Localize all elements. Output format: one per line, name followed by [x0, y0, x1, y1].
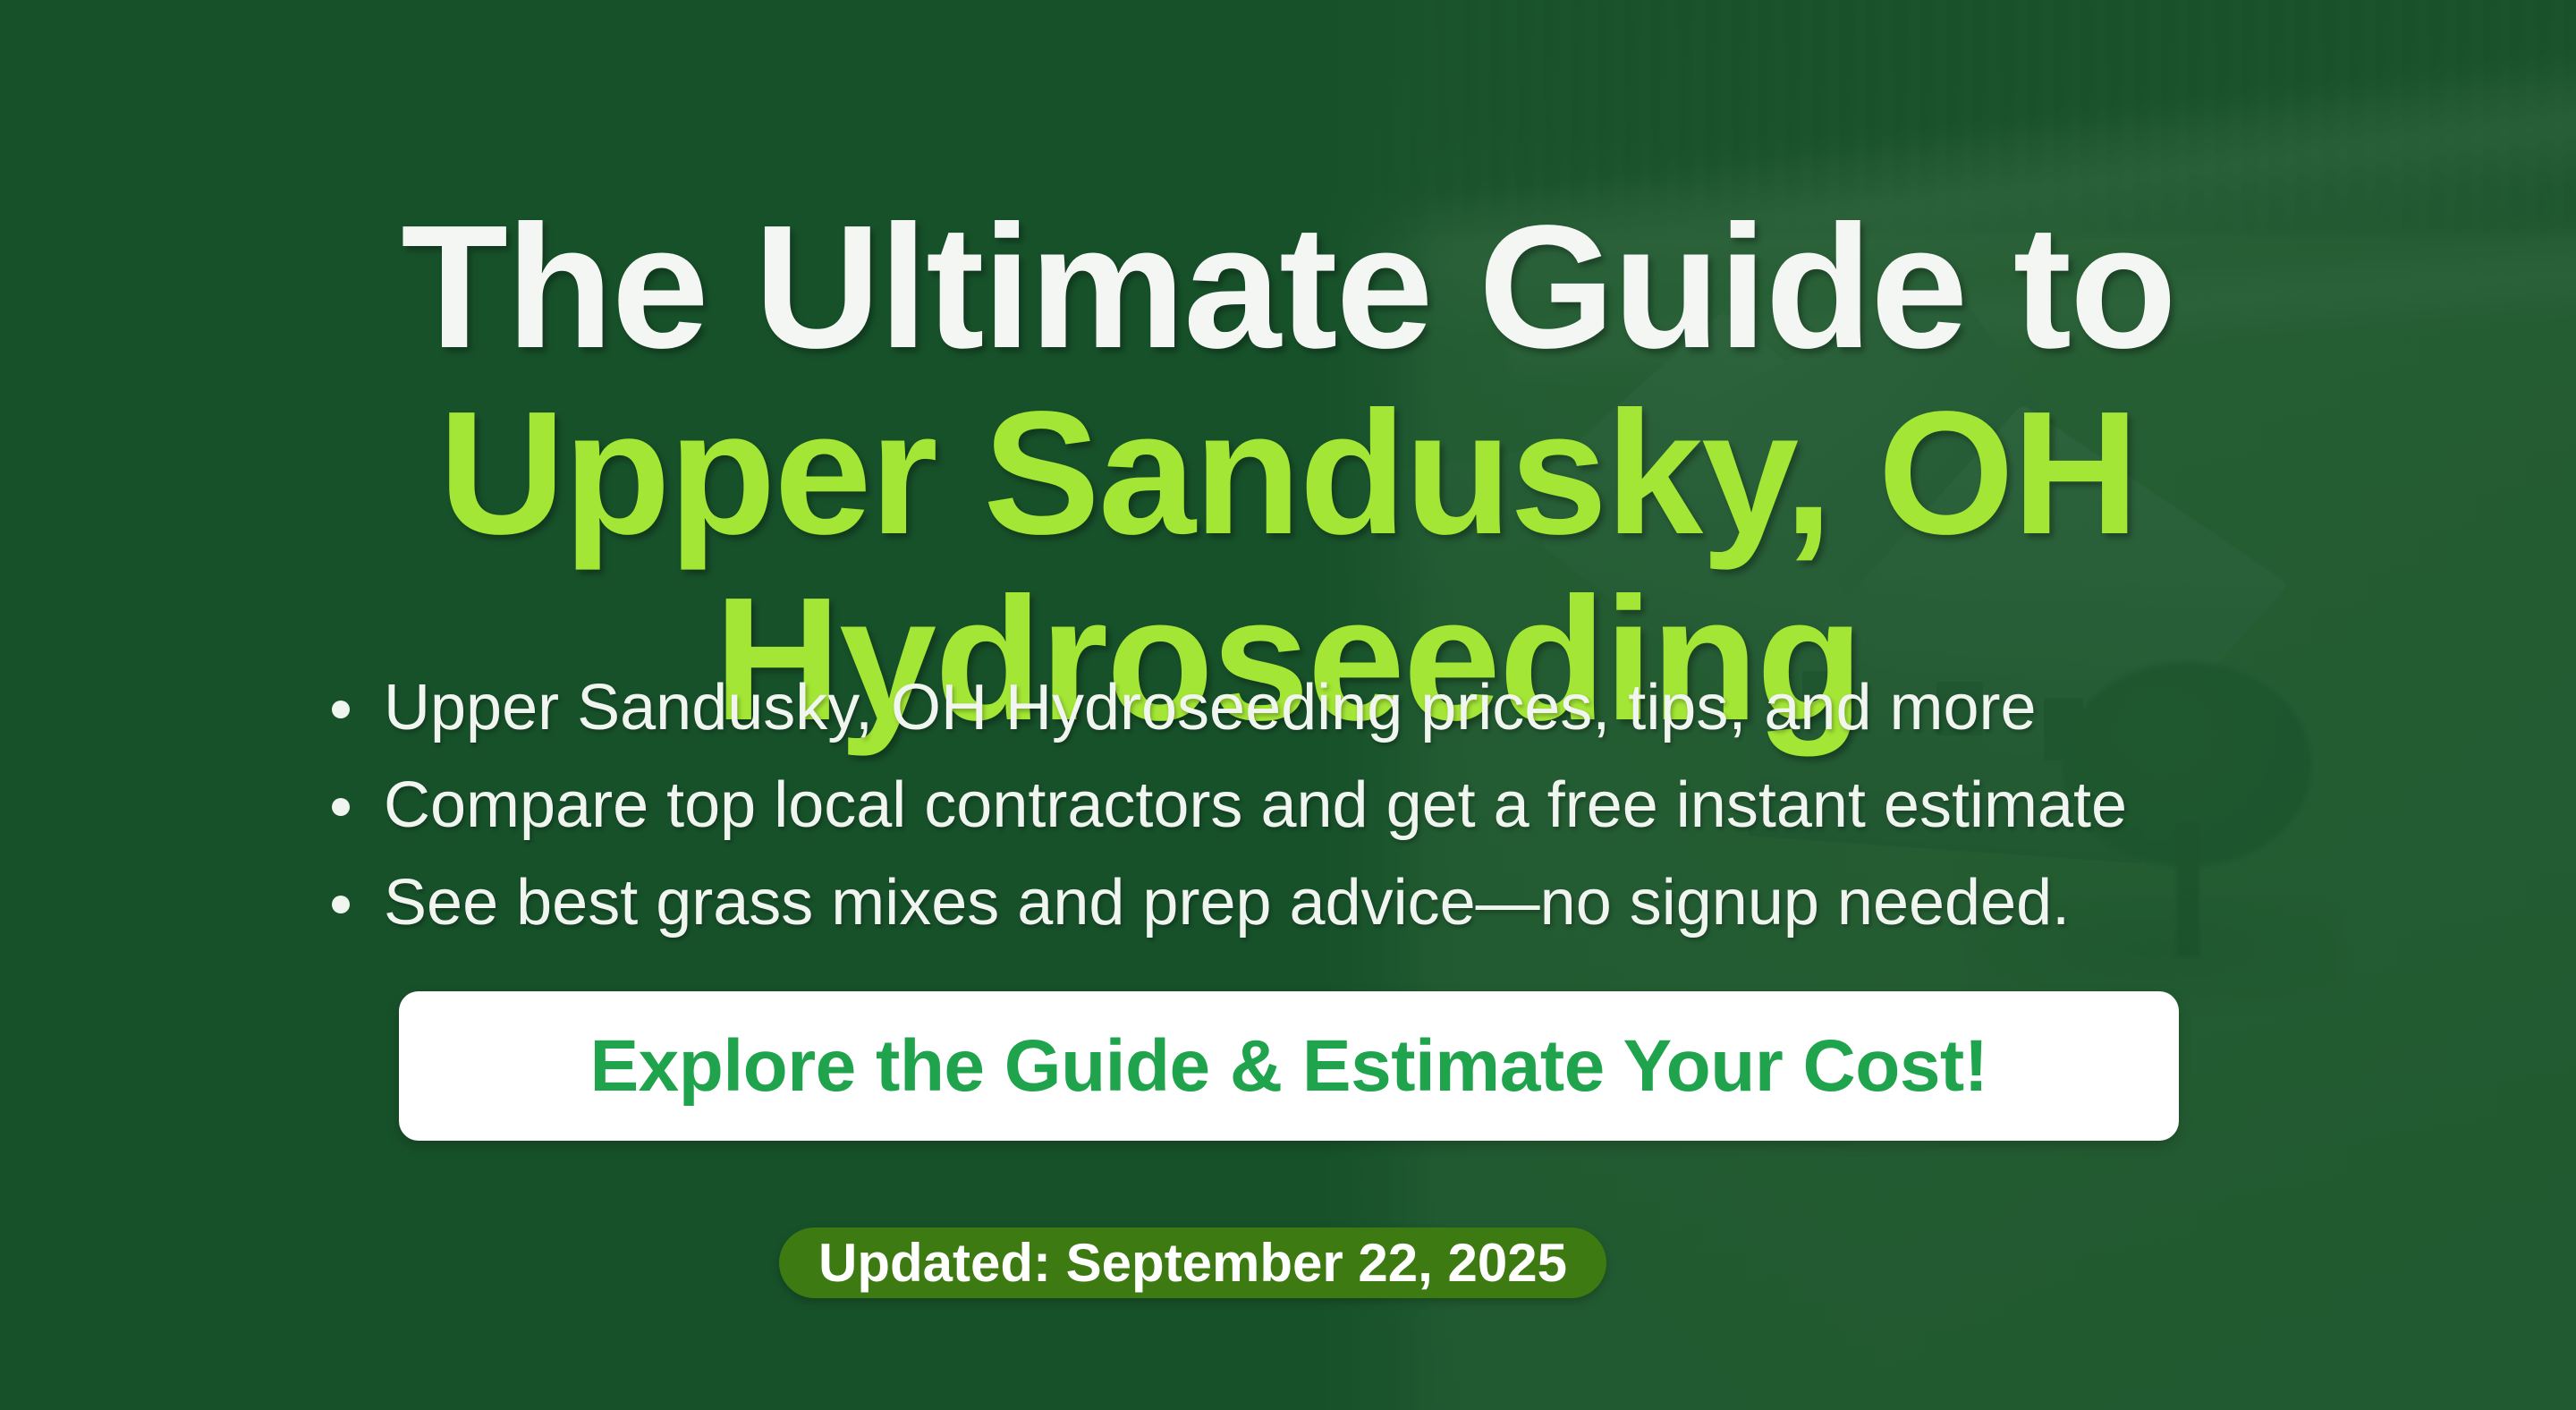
- bullet-icon: [332, 798, 350, 816]
- benefit-list: Upper Sandusky, OH Hydroseeding prices, …: [309, 675, 2276, 968]
- list-item-label: See best grass mixes and prep advice—no …: [384, 867, 2070, 939]
- bullet-icon: [332, 896, 350, 913]
- list-item: Compare top local contractors and get a …: [309, 773, 2276, 837]
- hero-content: The Ultimate Guide to Upper Sandusky, OH…: [0, 0, 2576, 1410]
- list-item: Upper Sandusky, OH Hydroseeding prices, …: [309, 675, 2276, 740]
- hero-banner: The Ultimate Guide to Upper Sandusky, OH…: [0, 0, 2576, 1410]
- headline-line-1: The Ultimate Guide to: [401, 189, 2174, 385]
- updated-date-badge: Updated: September 22, 2025: [779, 1227, 1606, 1298]
- list-item-label: Upper Sandusky, OH Hydroseeding prices, …: [384, 672, 2037, 743]
- explore-guide-button[interactable]: Explore the Guide & Estimate Your Cost!: [399, 991, 2179, 1141]
- list-item: See best grass mixes and prep advice—no …: [309, 871, 2276, 935]
- bullet-icon: [332, 701, 350, 718]
- list-item-label: Compare top local contractors and get a …: [384, 769, 2127, 841]
- page-title: The Ultimate Guide to Upper Sandusky, OH…: [0, 194, 2576, 752]
